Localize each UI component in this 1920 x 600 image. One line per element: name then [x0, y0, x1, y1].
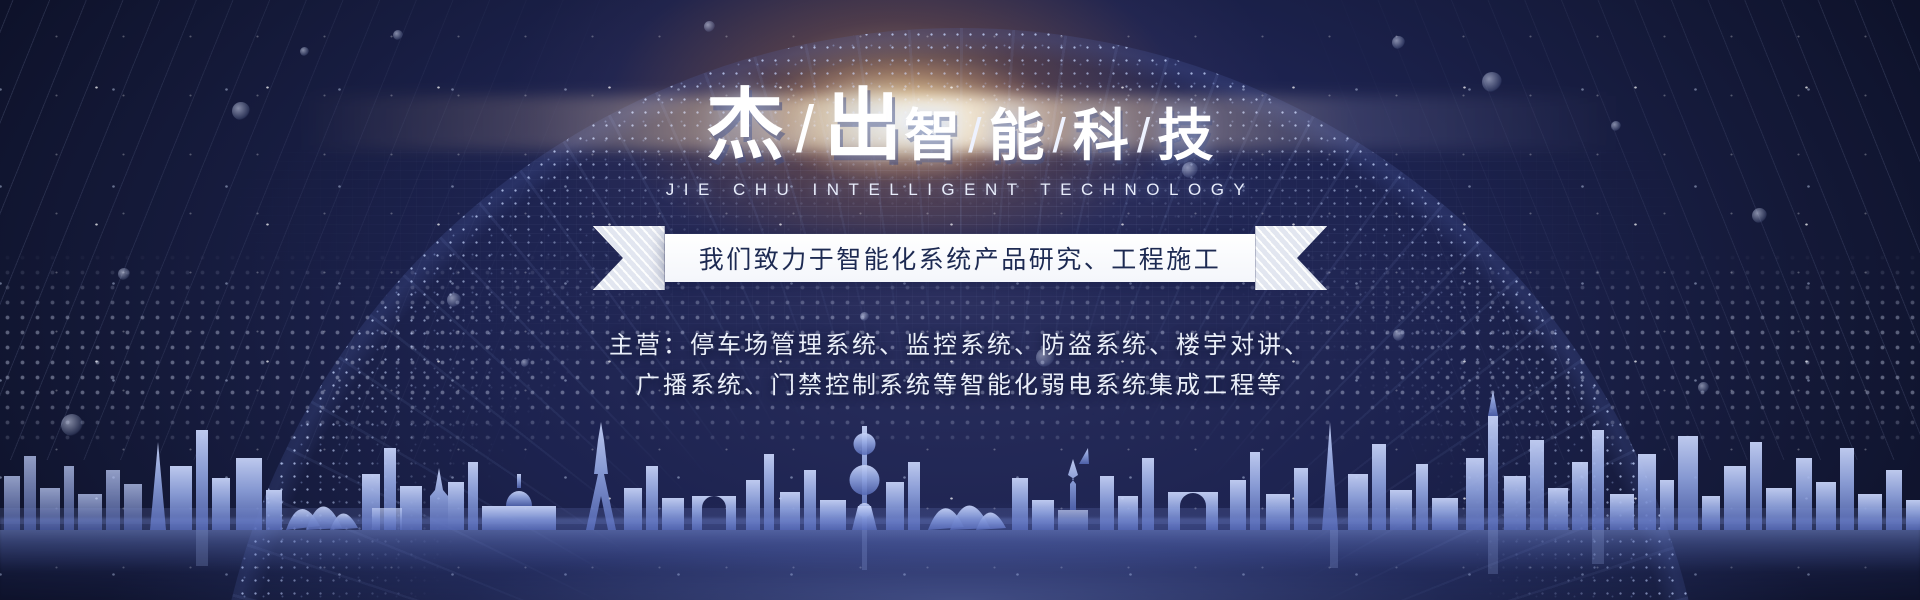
ribbon-tail-right [1255, 226, 1327, 290]
ribbon-tail-left [593, 226, 665, 290]
service-description: 主营：停车场管理系统、监控系统、防盗系统、楼宇对讲、 广播系统、门禁控制系统等智… [0, 326, 1920, 406]
title-char-ji: 技 [1157, 108, 1214, 164]
title-slash-4: / [1130, 113, 1157, 161]
description-line-1: 主营：停车场管理系统、监控系统、防盗系统、楼宇对讲、 [0, 326, 1920, 366]
main-title: 杰 / 出 智 / 能 / 科 / 技 [0, 86, 1920, 164]
title-slash-3: / [1046, 113, 1073, 161]
ribbon-slogan: 我们致力于智能化系统产品研究、工程施工 [699, 240, 1222, 276]
title-char-zhi: 智 [904, 108, 961, 164]
title-slash-1: / [786, 96, 824, 162]
ribbon-banner: 我们致力于智能化系统产品研究、工程施工 [0, 226, 1920, 290]
title-slash-2: / [961, 113, 988, 161]
english-subtitle: JIE CHU INTELLIGENT TECHNOLOGY [0, 180, 1920, 200]
title-char-jie: 杰 [706, 86, 786, 164]
description-line-2: 广播系统、门禁控制系统等智能化弱电系统集成工程等 [0, 366, 1920, 406]
title-char-chu: 出 [824, 86, 904, 164]
hero-banner: 杰 / 出 智 / 能 / 科 / 技 JIE CHU INTELLIGENT … [0, 0, 1920, 600]
ribbon-body: 我们致力于智能化系统产品研究、工程施工 [665, 234, 1256, 282]
title-char-ke: 科 [1073, 108, 1130, 164]
banner-content: 杰 / 出 智 / 能 / 科 / 技 JIE CHU INTELLIGENT … [0, 0, 1920, 406]
title-char-neng: 能 [989, 108, 1046, 164]
